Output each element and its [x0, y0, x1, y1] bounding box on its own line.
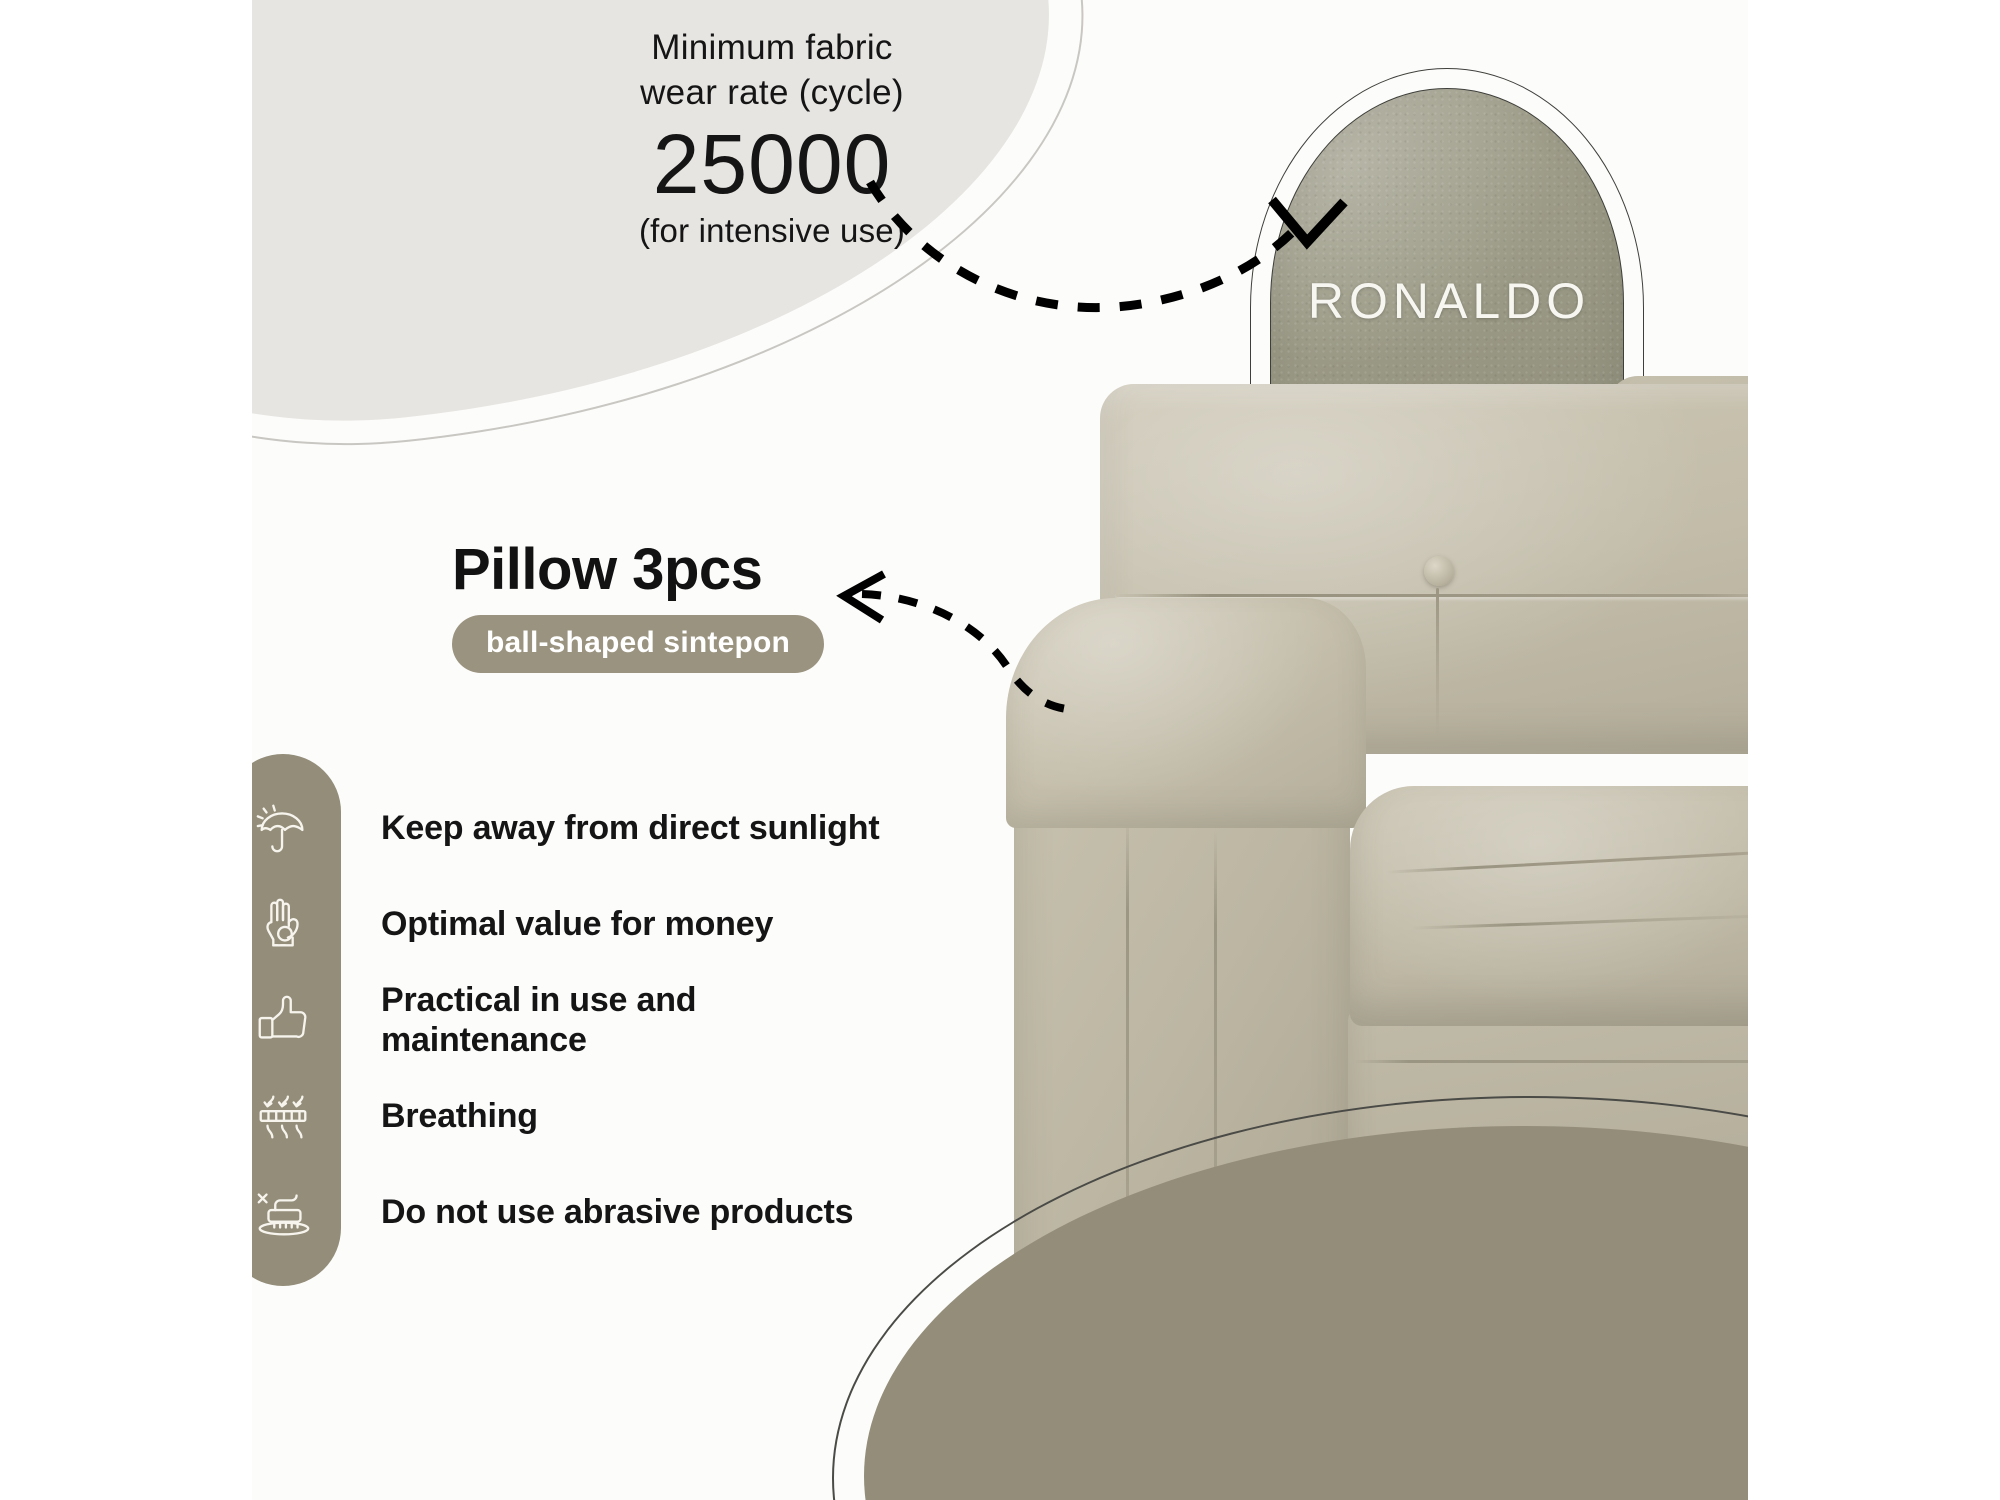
no-abrasive-icon: [252, 1164, 341, 1260]
backrest-seam: [1116, 594, 1748, 597]
feature-label: Do not use abrasive products: [381, 1192, 853, 1232]
breathable-icon: [252, 1068, 341, 1164]
wear-rate-note: (for intensive use): [552, 211, 992, 252]
feature-icon-rail: [252, 754, 341, 1286]
armrest-top: [1006, 598, 1366, 828]
feature-label: Optimal value for money: [381, 904, 773, 944]
artboard: RONALDO Minimum fabric wea: [252, 0, 1748, 1500]
tufting-button: [1424, 556, 1454, 586]
backrest-vertical-seam: [1436, 588, 1439, 738]
wear-rate-line-2: wear rate (cycle): [552, 71, 992, 116]
seat-cushion: [1350, 786, 1748, 1026]
infographic-canvas: RONALDO Minimum fabric wea: [0, 0, 2000, 1500]
ok-hand-icon: [252, 876, 341, 972]
feature-item: Do not use abrasive products: [381, 1164, 881, 1260]
wear-rate-line-1: Minimum fabric: [552, 26, 992, 71]
feature-item: Practical in use and maintenance: [381, 972, 881, 1068]
thumbs-up-icon: [252, 972, 341, 1068]
feature-label: Keep away from direct sunlight: [381, 808, 879, 848]
brand-wordmark: RONALDO: [1284, 276, 1614, 326]
pillow-callout: Pillow 3pcs ball-shaped sintepon: [452, 540, 824, 673]
pillow-badge: ball-shaped sintepon: [452, 615, 824, 673]
feature-label: Breathing: [381, 1096, 538, 1136]
feature-item: Optimal value for money: [381, 876, 881, 972]
pillow-title: Pillow 3pcs: [452, 540, 824, 601]
wear-rate-callout: Minimum fabric wear rate (cycle) 25000 (…: [552, 26, 992, 252]
features-section: Keep away from direct sunlight Optimal v…: [252, 754, 881, 1286]
feature-item: Breathing: [381, 1068, 881, 1164]
umbrella-sun-icon: [252, 780, 341, 876]
feature-label: Practical in use and maintenance: [381, 980, 881, 1060]
feature-item: Keep away from direct sunlight: [381, 780, 881, 876]
base-seam: [1354, 1060, 1748, 1063]
wear-rate-value: 25000: [552, 120, 992, 209]
feature-text-list: Keep away from direct sunlight Optimal v…: [381, 754, 881, 1286]
